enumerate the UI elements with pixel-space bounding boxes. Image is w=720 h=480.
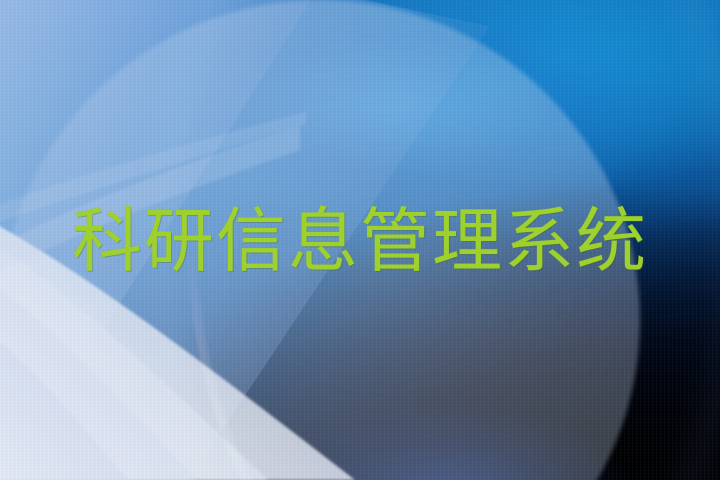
- decorative-arc-group: [0, 0, 720, 480]
- decorative-arc-bands: [0, 0, 720, 480]
- title-slide: 科研信息管理系统: [0, 0, 720, 480]
